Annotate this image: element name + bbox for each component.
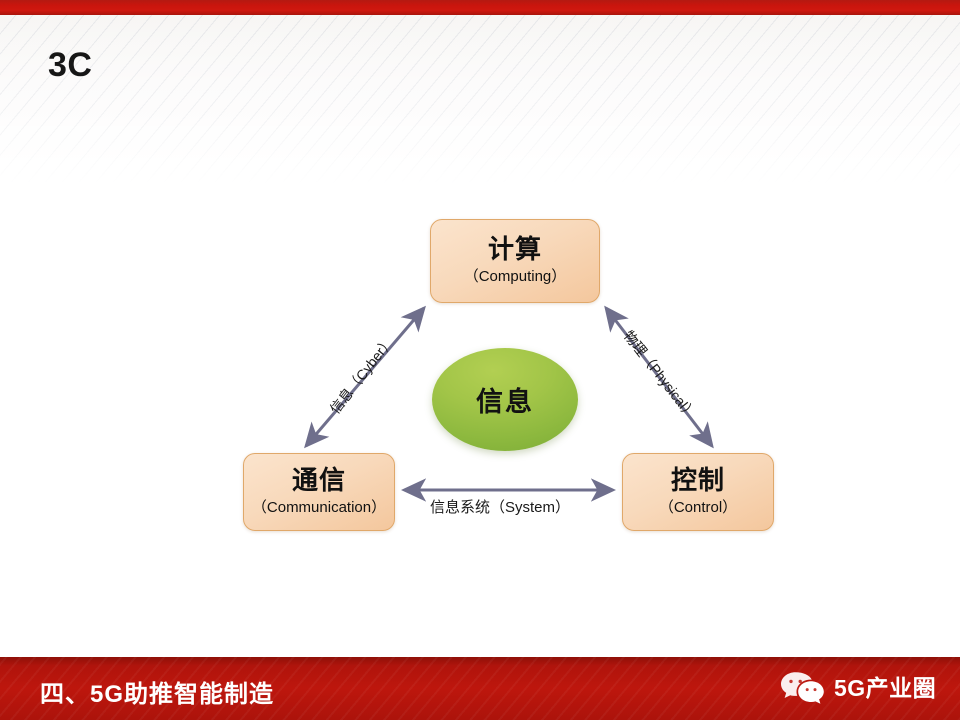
node-communication[interactable]: 通信 （Communication）: [243, 453, 395, 531]
edge-label-system: 信息系统（System）: [430, 500, 570, 515]
footer-section-title: 四、5G助推智能制造: [40, 683, 274, 707]
node-computing[interactable]: 计算 （Computing）: [430, 219, 600, 303]
node-communication-label-cn: 通信: [292, 466, 346, 494]
center-node-information: 信息: [432, 348, 578, 451]
center-node-label-cn: 信息: [476, 380, 534, 419]
node-computing-label-en: （Computing）: [464, 268, 567, 287]
slide-canvas: 3C 信息 计算 （Computing）: [0, 0, 960, 720]
node-communication-label-en: （Communication）: [252, 499, 386, 518]
diagram-arrows-svg: [0, 0, 960, 660]
node-control-label-en: （Control）: [659, 499, 737, 518]
diagram-region: 信息 计算 （Computing） 通信 （Communication） 控制 …: [0, 0, 960, 660]
brand-name-label: 5G产业圈: [834, 677, 936, 700]
node-computing-label-cn: 计算: [488, 235, 542, 263]
brand-block: 5G产业圈: [780, 671, 936, 705]
node-control[interactable]: 控制 （Control）: [622, 453, 774, 531]
wechat-icon: [780, 671, 826, 705]
node-control-label-cn: 控制: [671, 466, 725, 494]
